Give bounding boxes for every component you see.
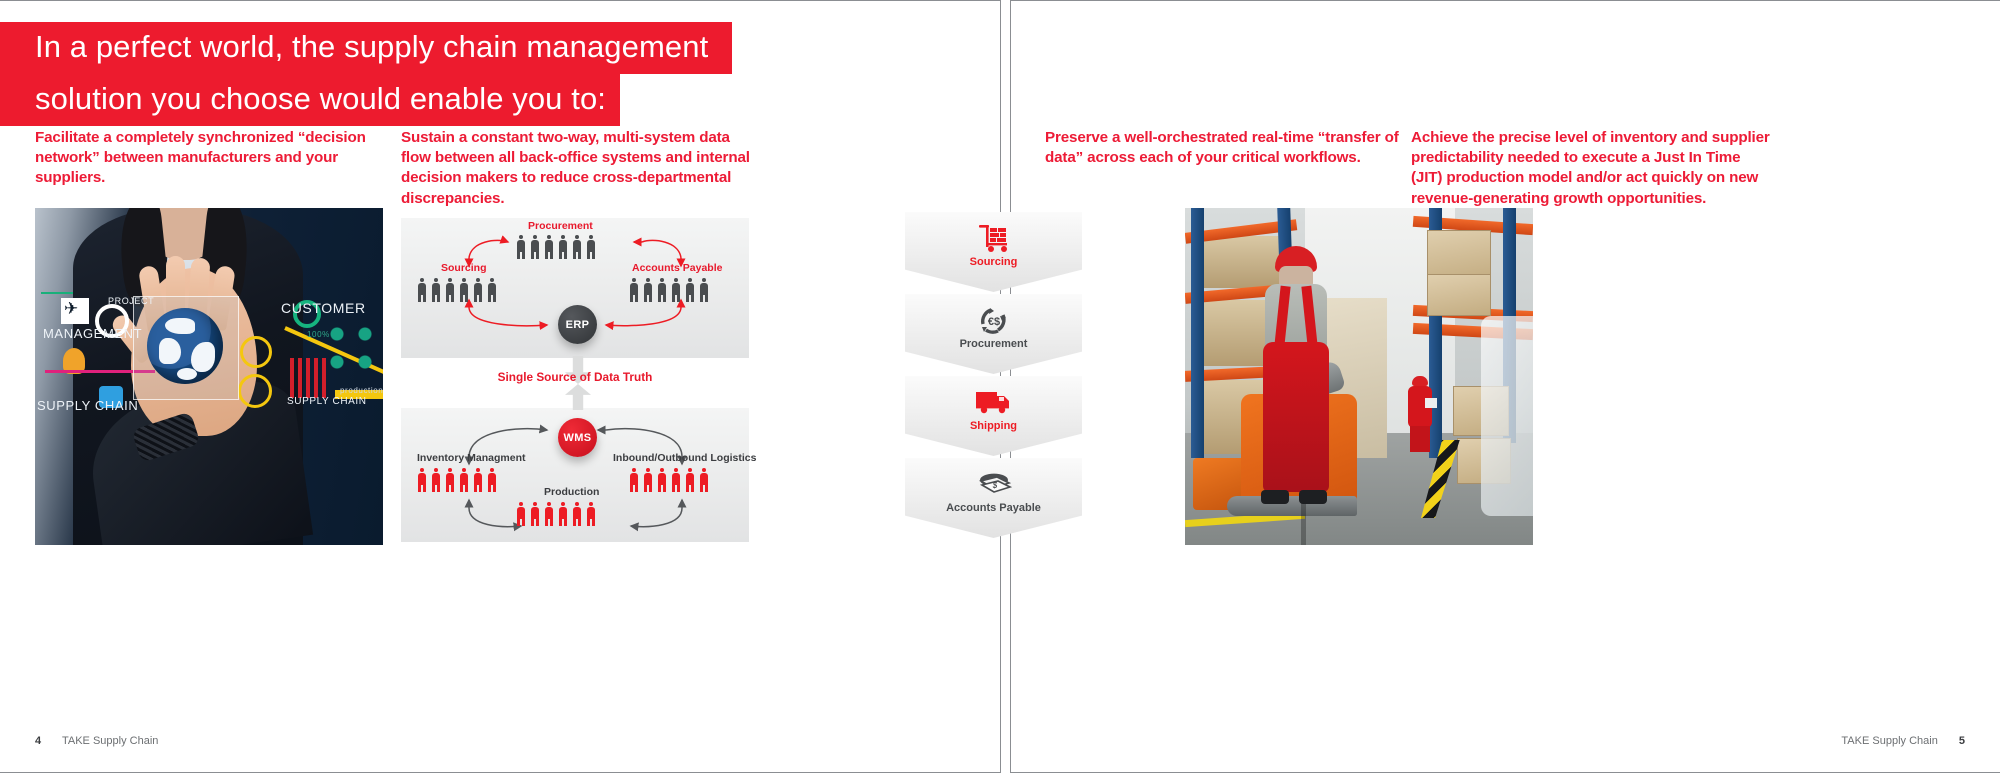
erp-label-procurement: Procurement — [528, 220, 593, 232]
hand-truck-bricks-icon — [977, 222, 1011, 254]
wms-label-inbound-outbound: Inbound/Outbound Logistics — [613, 452, 756, 464]
person-icon — [699, 468, 709, 492]
funnel-label-sourcing: Sourcing — [970, 256, 1018, 268]
person-icon — [685, 278, 695, 302]
rack-upright — [1191, 208, 1204, 458]
hard-hat — [1412, 376, 1428, 386]
carton-box — [1427, 230, 1491, 280]
work-boot-right — [1299, 490, 1327, 504]
column-3-blurb: Preserve a well-orchestrated real-time “… — [1045, 128, 1405, 168]
erp-hub: ERP — [558, 305, 597, 344]
red-overalls — [1263, 342, 1329, 492]
hud-label-supply-chain-left: SUPPLY CHAIN — [37, 398, 138, 413]
wms-hub: WMS — [558, 418, 597, 457]
person-icon — [530, 502, 540, 526]
erp-label-accounts-payable: Accounts Payable — [632, 262, 722, 274]
flow-arrow-up-icon — [565, 384, 591, 410]
delivery-truck-icon — [975, 386, 1013, 418]
person-icon — [643, 468, 653, 492]
hud-label-production: production — [340, 386, 383, 395]
funnel-step-procurement[interactable]: €$ Procurement — [905, 294, 1082, 374]
hud-label-management: MANAGEMENT — [43, 326, 142, 341]
erp-crowd-procurement — [516, 235, 596, 259]
column-4-blurb: Achieve the precise level of inventory a… — [1411, 128, 1771, 209]
erp-crowd-sourcing — [417, 278, 497, 302]
funnel-label-shipping: Shipping — [970, 420, 1017, 432]
person-icon — [473, 468, 483, 492]
network-nodes-icon — [323, 320, 383, 386]
wms-label-inventory-management: Inventory Managment — [417, 452, 526, 464]
person-icon — [671, 468, 681, 492]
person-icon — [671, 278, 681, 302]
person-icon — [572, 235, 582, 259]
person-icon — [445, 278, 455, 302]
warehouse-worker — [1255, 246, 1337, 504]
second-worker — [1407, 376, 1433, 452]
person-icon — [558, 502, 568, 526]
wms-crowd-inventory — [417, 468, 497, 492]
person-icon — [544, 235, 554, 259]
funnel-step-shipping[interactable]: Shipping — [905, 376, 1082, 456]
person-icon — [487, 278, 497, 302]
person-icon — [657, 278, 667, 302]
hud-label-customer: CUSTOMER — [281, 300, 366, 316]
footer-left: 4 TAKE Supply Chain — [35, 735, 158, 747]
work-boot-left — [1261, 490, 1289, 504]
bar-chart-icon — [290, 358, 330, 398]
person-icon — [586, 235, 596, 259]
footer-brand-right: TAKE Supply Chain — [1841, 735, 1937, 747]
target-ring-1-icon — [240, 336, 272, 368]
page-title-line-1: In a perfect world, the supply chain man… — [0, 22, 732, 74]
wms-crowd-logistics — [629, 468, 709, 492]
funnel-step-accounts-payable[interactable]: $ Accounts Payable — [905, 458, 1082, 538]
single-source-caption: Single Source of Data Truth — [401, 370, 749, 384]
person-icon — [487, 468, 497, 492]
person-icon — [657, 468, 667, 492]
person-icon — [530, 235, 540, 259]
person-icon — [629, 468, 639, 492]
person-icon — [629, 278, 639, 302]
hud-label-percent: 100% — [307, 330, 330, 339]
person-icon — [417, 278, 427, 302]
photo-businesswoman-globe: PROJECT MANAGEMENT SUPPLY CHAIN CUSTOMER… — [35, 208, 383, 545]
person-icon — [643, 278, 653, 302]
person-icon — [516, 502, 526, 526]
magazine-spread: In a perfect world, the supply chain man… — [0, 0, 2000, 773]
clipboard — [1425, 398, 1437, 408]
person-icon — [586, 502, 596, 526]
svg-text:€$: €$ — [987, 316, 999, 328]
person-icon — [516, 235, 526, 259]
carton-box — [1427, 274, 1491, 316]
shrink-wrapped-pallet — [1481, 316, 1533, 516]
wms-crowd-production — [516, 502, 596, 526]
globe-icon — [147, 308, 223, 384]
person-icon — [431, 278, 441, 302]
diagram-erp-wms: Procurement Sourcing Accounts Payable — [401, 208, 749, 545]
erp-label-sourcing: Sourcing — [441, 262, 487, 274]
hud-label-supply-chain-right: SUPPLY CHAIN — [287, 396, 367, 407]
wms-label-production: Production — [544, 486, 599, 498]
person-icon — [473, 278, 483, 302]
person-icon — [572, 502, 582, 526]
page-number-right: 5 — [1959, 735, 1965, 747]
target-ring-2-icon — [238, 374, 272, 408]
svg-text:$: $ — [991, 481, 997, 490]
footer-right: TAKE Supply Chain 5 — [1841, 735, 1965, 747]
funnel-chevrons: Sourcing €$ Procurement — [905, 208, 1082, 545]
person-icon — [417, 468, 427, 492]
person-icon — [459, 468, 469, 492]
person-icon — [558, 235, 568, 259]
page-title-banner: In a perfect world, the supply chain man… — [0, 22, 720, 126]
person-icon — [685, 468, 695, 492]
column-2-blurb: Sustain a constant two-way, multi-system… — [401, 128, 751, 209]
funnel-label-accounts-payable: Accounts Payable — [946, 502, 1041, 514]
cash-payment-icon: $ — [975, 468, 1013, 500]
erp-crowd-accounts-payable — [629, 278, 709, 302]
column-1-blurb: Facilitate a completely synchronized “de… — [35, 128, 395, 189]
footer-brand-left: TAKE Supply Chain — [62, 735, 158, 747]
currency-recycle-icon: €$ — [977, 304, 1011, 336]
funnel-step-sourcing[interactable]: Sourcing — [905, 212, 1082, 292]
airplane-icon — [61, 298, 89, 324]
person-icon — [431, 468, 441, 492]
funnel-label-procurement: Procurement — [960, 338, 1028, 350]
person-icon — [699, 278, 709, 302]
person-icon — [544, 502, 554, 526]
page-number-left: 4 — [35, 735, 41, 747]
hud-label-project: PROJECT — [108, 296, 154, 306]
worker-legs — [1410, 426, 1430, 452]
page-title-line-2: solution you choose would enable you to: — [0, 74, 620, 126]
person-icon — [459, 278, 469, 302]
person-icon — [445, 468, 455, 492]
photo-warehouse-forklift — [1185, 208, 1533, 545]
